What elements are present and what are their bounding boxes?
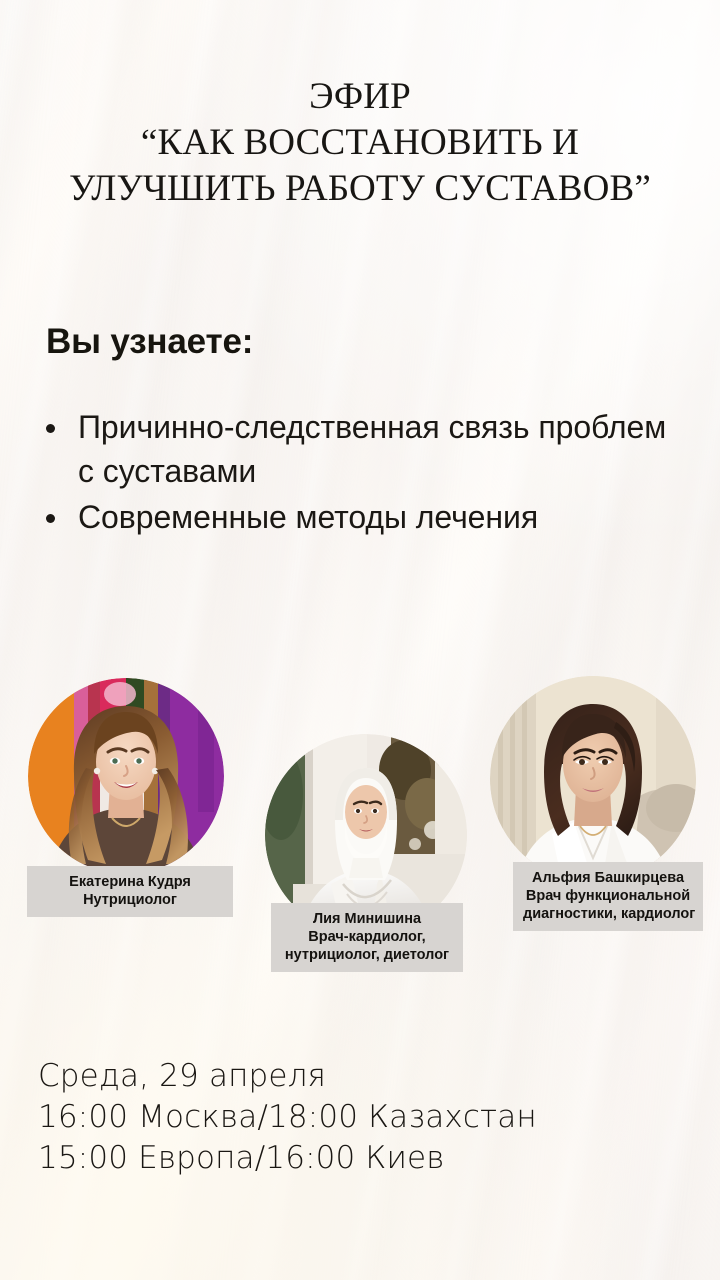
speaker-name-badge: Лия Минишина Врач-кардиолог, нутрициолог…: [271, 903, 463, 972]
webinar-poster: ЭФИР “КАК ВОССТАНОВИТЬ И УЛУЧШИТЬ РАБОТУ…: [0, 0, 720, 1280]
speaker-name-badge: Екатерина Кудря Нутрициолог: [27, 866, 233, 917]
speaker-role-line: Нутрициолог: [37, 891, 223, 909]
bullet-dot-icon: [46, 514, 55, 523]
headline-line-2: “КАК ВОССТАНОВИТЬ И: [0, 120, 720, 166]
speaker-role-line: диагностики, кардиолог: [523, 905, 693, 923]
schedule-time-1: 16:00 Москва/18:00 Казахстан: [38, 1097, 537, 1138]
speaker-photo-right: [490, 676, 696, 882]
speaker-role-line: нутрициолог, диетолог: [281, 946, 453, 964]
speaker-name-badge: Альфия Башкирцева Врач функциональной ди…: [513, 862, 703, 931]
headline: ЭФИР “КАК ВОССТАНОВИТЬ И УЛУЧШИТЬ РАБОТУ…: [0, 74, 720, 212]
list-item: Современные методы лечения: [40, 495, 680, 539]
speaker-role-line: Врач функциональной: [523, 887, 693, 905]
schedule-time-2: 15:00 Европа/16:00 Киев: [38, 1138, 537, 1179]
schedule-block: Среда, 29 апреля 16:00 Москва/18:00 Каза…: [38, 1056, 537, 1179]
avatar: [490, 676, 696, 882]
speaker-name: Альфия Башкирцева: [523, 869, 693, 887]
speaker-photo-left: [28, 678, 224, 874]
bullet-dot-icon: [46, 424, 55, 433]
headline-line-3: УЛУЧШИТЬ РАБОТУ СУСТАВОВ”: [0, 166, 720, 212]
avatar: [28, 678, 224, 874]
speaker-name: Лия Минишина: [281, 910, 453, 928]
list-item: Причинно-следственная связь проблем с су…: [40, 405, 680, 493]
speaker-role-line: Врач-кардиолог,: [281, 928, 453, 946]
benefits-list: Причинно-следственная связь проблем с су…: [40, 405, 680, 541]
speaker-name: Екатерина Кудря: [37, 873, 223, 891]
list-item-label: Причинно-следственная связь проблем с су…: [78, 409, 666, 489]
headline-line-1: ЭФИР: [0, 74, 720, 120]
lead-heading: Вы узнаете:: [46, 322, 253, 362]
list-item-label: Современные методы лечения: [78, 499, 538, 535]
schedule-date: Среда, 29 апреля: [38, 1056, 537, 1097]
